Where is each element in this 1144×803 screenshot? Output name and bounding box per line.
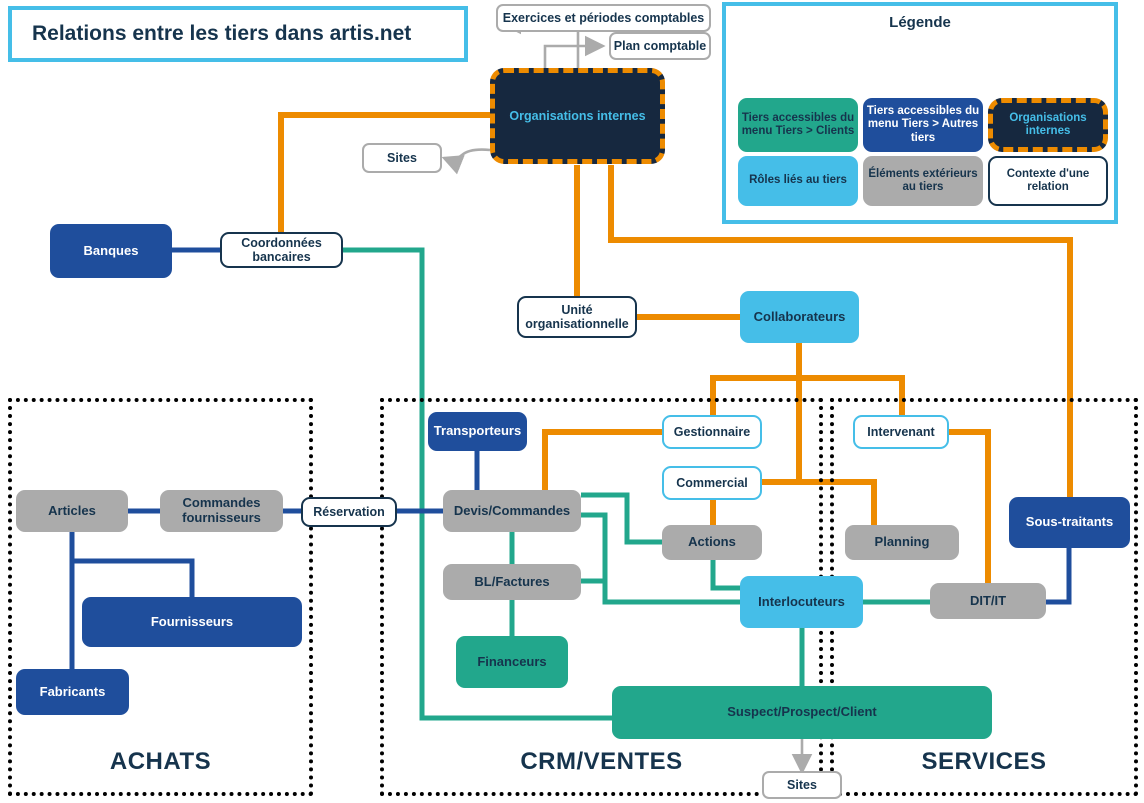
node-collaborateurs[interactable]: Collaborateurs [740,291,859,343]
legend-item-contexte-relation: Contexte d'une relation [988,156,1108,206]
legend-item-clients: Tiers accessibles du menu Tiers > Client… [738,98,858,152]
legend-item-elements-exterieurs: Éléments extérieurs au tiers [863,156,983,206]
node-interlocuteurs[interactable]: Interlocuteurs [740,576,863,628]
node-plan-comptable[interactable]: Plan comptable [609,32,711,60]
node-banques[interactable]: Banques [50,224,172,278]
node-gestionnaire[interactable]: Gestionnaire [662,415,762,449]
legend-item-organisations-internes: Organisations internes [988,98,1108,152]
zone-label-crm-ventes: CRM/VENTES [380,748,823,776]
node-commercial[interactable]: Commercial [662,466,762,500]
node-fabricants[interactable]: Fabricants [16,669,129,715]
node-suspect-prospect-client[interactable]: Suspect/Prospect/Client [612,686,992,739]
edge-org-sites [444,150,490,160]
node-sites-top[interactable]: Sites [362,143,442,173]
zone-label-achats: ACHATS [8,748,313,776]
node-planning[interactable]: Planning [845,525,959,560]
node-devis-commandes[interactable]: Devis/Commandes [443,490,581,532]
legend-title: Légende [726,14,1114,31]
node-intervenant[interactable]: Intervenant [853,415,949,449]
diagram-canvas: Relations entre les tiers dans artis.net… [0,0,1144,803]
page-title-text: Relations entre les tiers dans artis.net [32,22,411,46]
node-reservation[interactable]: Réservation [301,497,397,527]
node-financeurs[interactable]: Financeurs [456,636,568,688]
node-articles[interactable]: Articles [16,490,128,532]
node-transporteurs[interactable]: Transporteurs [428,412,527,451]
page-title: Relations entre les tiers dans artis.net [8,6,468,62]
zone-label-services: SERVICES [830,748,1138,776]
node-dit-it[interactable]: DIT/IT [930,583,1046,619]
node-coordonnees-bancaires[interactable]: Coordonnées bancaires [220,232,343,268]
node-actions[interactable]: Actions [662,525,762,560]
node-bl-factures[interactable]: BL/Factures [443,564,581,600]
legend-panel: Légende Tiers accessibles du menu Tiers … [722,2,1118,224]
node-commandes-fournisseurs[interactable]: Commandes fournisseurs [160,490,283,532]
legend-item-autres-tiers: Tiers accessibles du menu Tiers > Autres… [863,98,983,152]
node-unite-organisationnelle[interactable]: Unité organisationnelle [517,296,637,338]
node-fournisseurs[interactable]: Fournisseurs [82,597,302,647]
node-sous-traitants[interactable]: Sous-traitants [1009,497,1130,548]
legend-item-roles: Rôles liés au tiers [738,156,858,206]
node-exercices-periodes-comptables[interactable]: Exercices et périodes comptables [496,4,711,32]
node-organisations-internes[interactable]: Organisations internes [490,68,665,164]
